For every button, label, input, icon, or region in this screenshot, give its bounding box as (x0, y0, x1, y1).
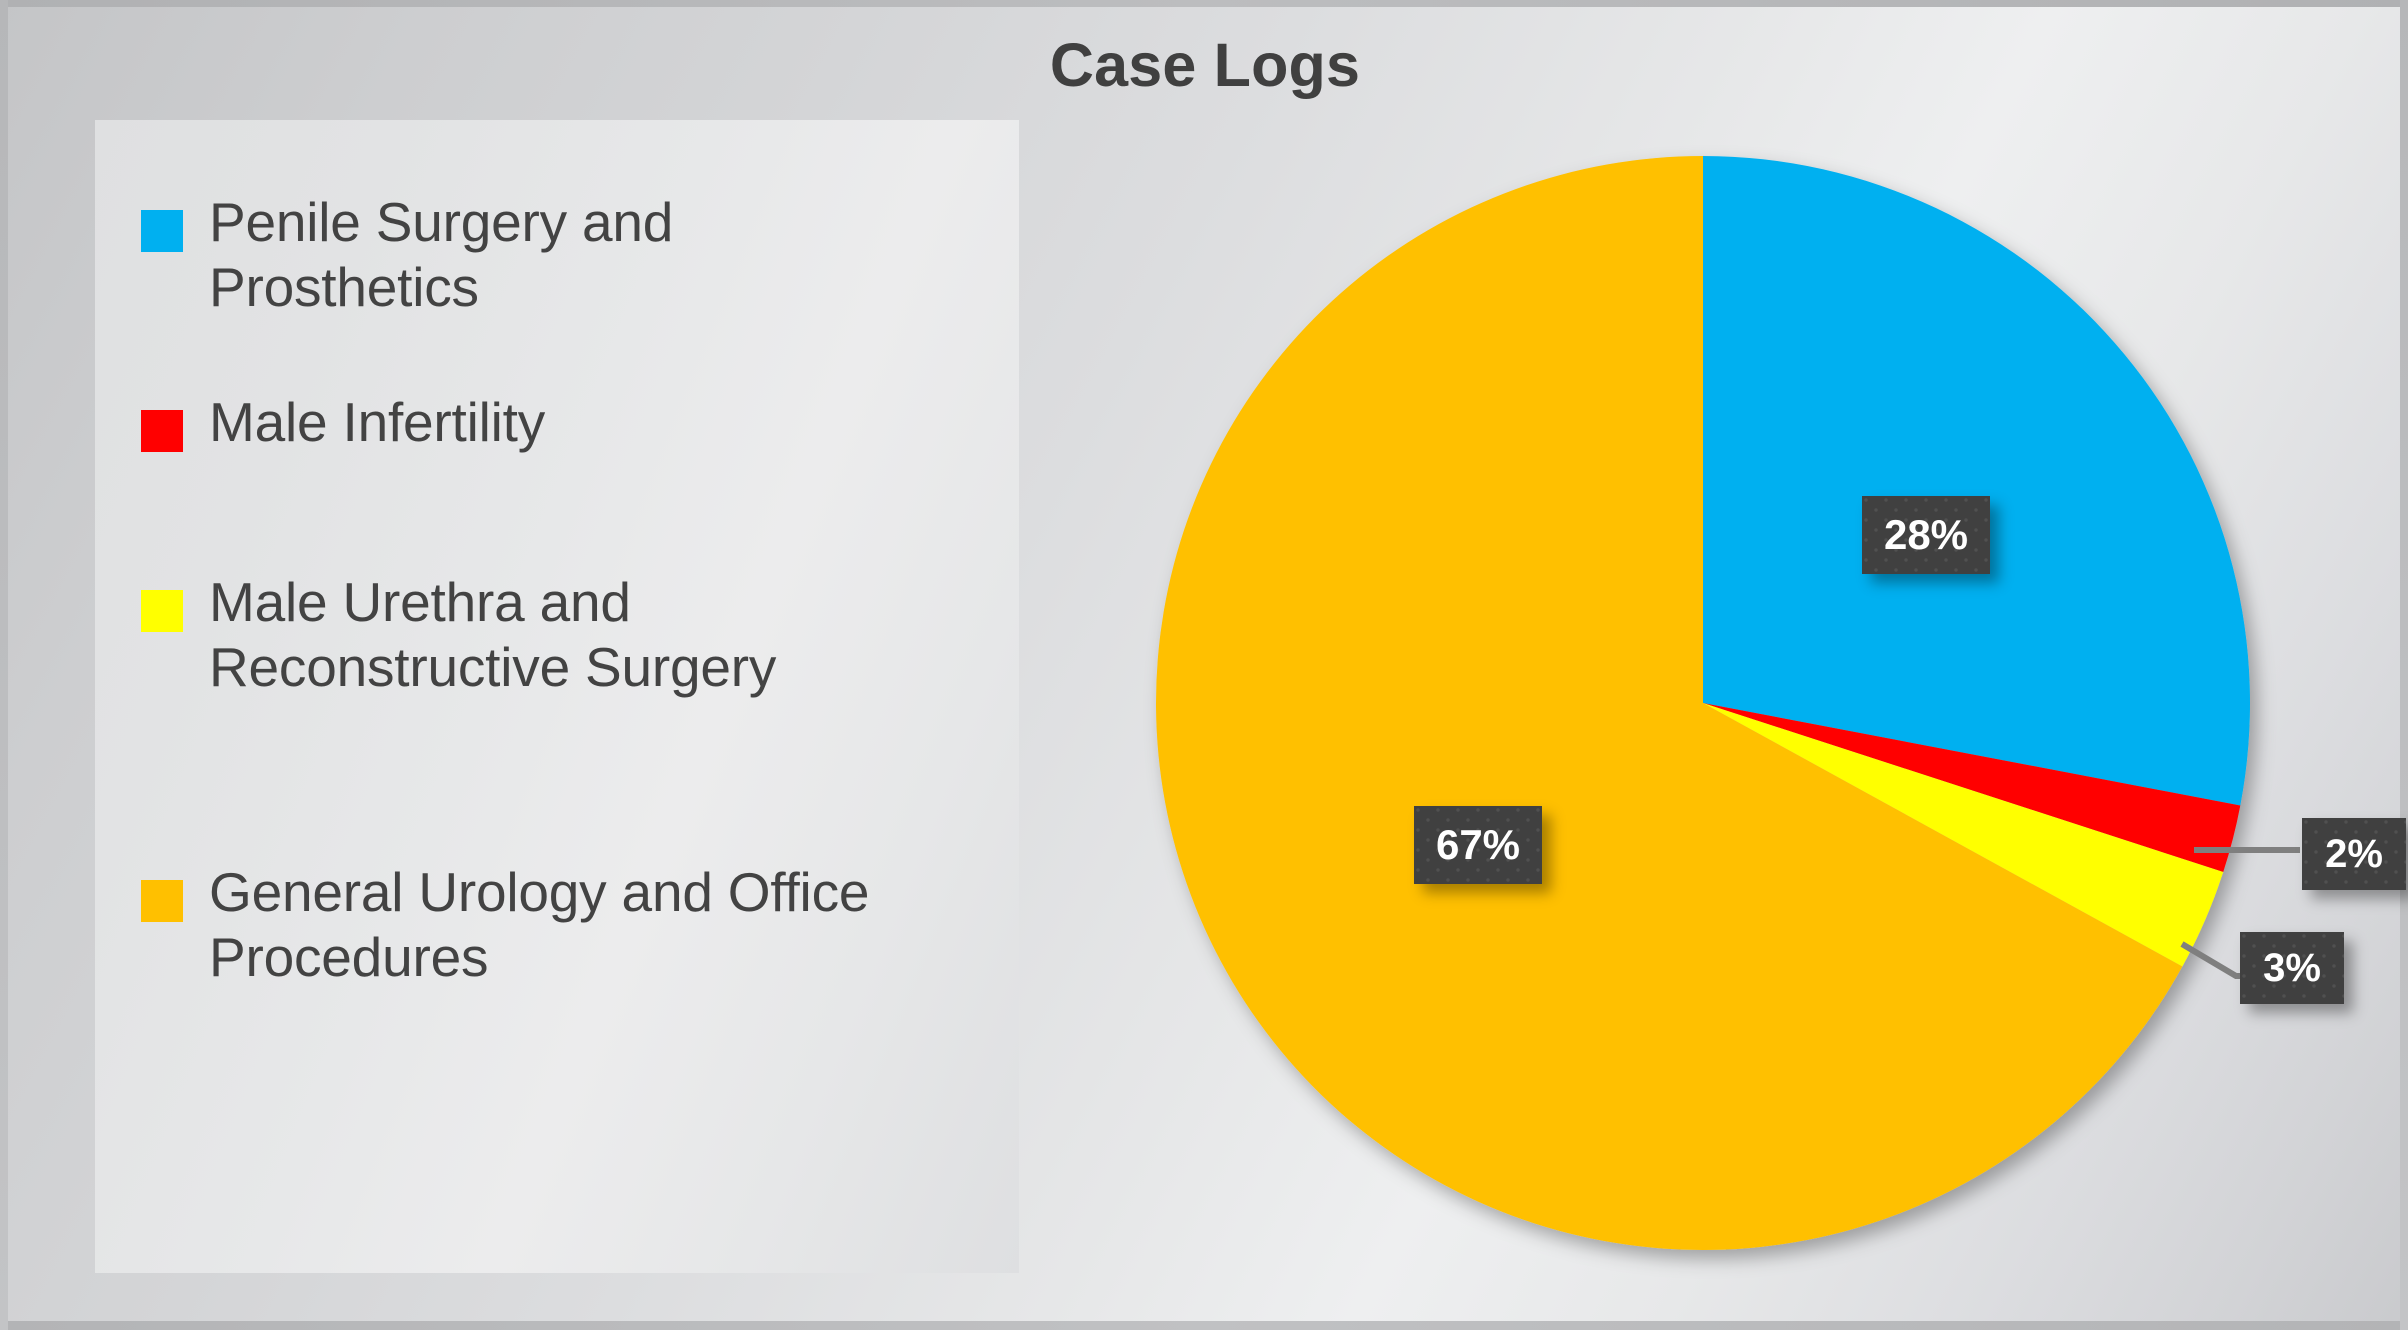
pie-slice[interactable] (1703, 156, 2250, 806)
data-label-2-percent: 2% (2302, 818, 2406, 890)
slide-border-left (0, 0, 8, 1330)
legend-item-general-urology-and-office-procedures[interactable]: General Urology and Office Procedures (141, 860, 991, 990)
legend-item-label: Male Infertility (209, 390, 545, 455)
data-label-28-percent: 28% (1862, 496, 1990, 574)
chart-title: Case Logs (700, 30, 1710, 100)
data-label-67-percent: 67% (1414, 806, 1542, 884)
pie-slice-group (1156, 156, 2250, 1250)
slide-border-right (2400, 0, 2408, 1330)
legend-item-label: Male Urethra and Reconstructive Surgery (209, 570, 949, 700)
chart-legend: Penile Surgery and Prosthetics Male Infe… (95, 120, 1019, 1273)
legend-swatch-icon-amber (141, 880, 183, 922)
slide-border-top (0, 0, 2408, 7)
legend-swatch-icon-red (141, 410, 183, 452)
legend-item-label: Penile Surgery and Prosthetics (209, 190, 949, 320)
legend-item-label: General Urology and Office Procedures (209, 860, 949, 990)
legend-item-penile-surgery-and-prosthetics[interactable]: Penile Surgery and Prosthetics (141, 190, 991, 320)
legend-item-male-urethra-and-reconstructive-surgery[interactable]: Male Urethra and Reconstructive Surgery (141, 570, 991, 700)
legend-swatch-icon-blue (141, 210, 183, 252)
slide-canvas: Case Logs Penile Surgery and Prosthetics… (0, 0, 2408, 1330)
legend-swatch-icon-yellow (141, 590, 183, 632)
legend-item-male-infertility[interactable]: Male Infertility (141, 390, 991, 455)
data-label-3-percent: 3% (2240, 932, 2344, 1004)
slide-border-bottom (0, 1321, 2408, 1330)
pie-chart-plot-area (1156, 156, 2250, 1250)
pie-chart-svg (1156, 156, 2250, 1250)
